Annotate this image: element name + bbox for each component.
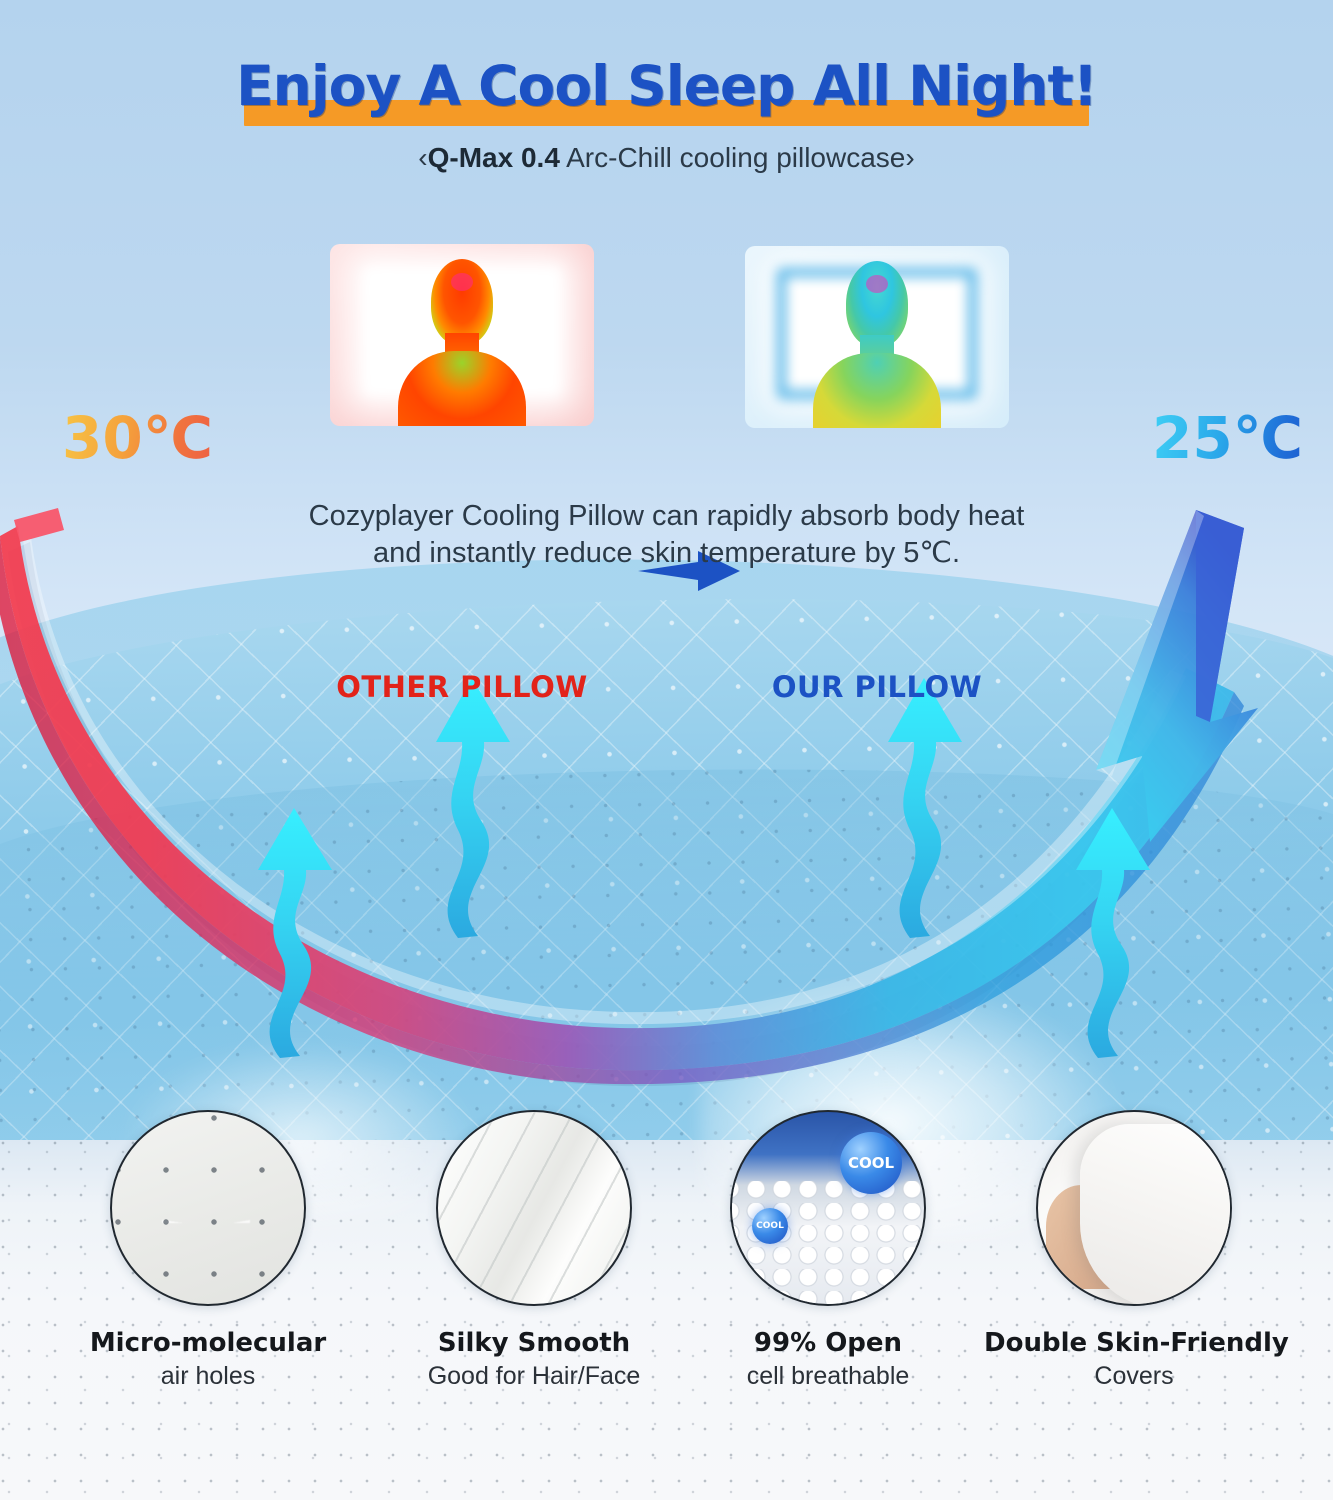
feature-subtitle: Covers: [984, 1362, 1284, 1391]
cool-airflow-arrow-icon: [1064, 800, 1174, 1060]
thermal-body-cold: [812, 261, 942, 428]
feature-subtitle: cell breathable: [678, 1362, 978, 1391]
cool-airflow-arrow-icon: [424, 672, 534, 940]
subtitle-open-bracket: ‹: [418, 142, 427, 173]
feature-subtitle: air holes: [58, 1362, 358, 1391]
fiber-strands: [162, 1124, 250, 1224]
thermal-torso-cold: [813, 353, 941, 428]
feature-item[interactable]: Silky Smooth Good for Hair/Face: [384, 1110, 684, 1391]
thermal-body-hot: [397, 259, 527, 426]
double-cover-icon: [1036, 1110, 1232, 1306]
feature-item[interactable]: COOL COOL 99% Open cell breathable: [678, 1110, 978, 1391]
caption-our-pillow: OUR PILLOW: [745, 670, 1009, 704]
page-title: Enjoy A Cool Sleep All Night!: [236, 54, 1097, 118]
page-title-wrapper: Enjoy A Cool Sleep All Night!: [222, 54, 1111, 118]
thermal-comparison: OTHER PILLOW OUR PILLOW: [0, 236, 1333, 486]
thermal-face-mark: [451, 273, 473, 291]
open-cell-structure: [730, 1181, 926, 1306]
feature-item[interactable]: Micro-molecular air holes: [58, 1110, 358, 1391]
header: Enjoy A Cool Sleep All Night! ‹Q-Max 0.4…: [0, 54, 1333, 174]
cover-flap: [1080, 1124, 1232, 1306]
cool-bubble-small: COOL: [752, 1208, 788, 1244]
feature-title: Micro-molecular: [58, 1328, 358, 1358]
subtitle-rest: Arc-Chill cooling pillowcase: [560, 142, 905, 173]
description-block: Cozyplayer Cooling Pillow can rapidly ab…: [0, 498, 1333, 572]
feature-subtitle: Good for Hair/Face: [384, 1362, 684, 1391]
thermal-image-our-pillow: [745, 246, 1009, 428]
thermal-image-other-pillow: [330, 244, 594, 426]
thermal-face-mark: [866, 275, 888, 293]
description-line-1: Cozyplayer Cooling Pillow can rapidly ab…: [0, 498, 1333, 535]
description-line-2: and instantly reduce skin temperature by…: [0, 535, 1333, 572]
cool-bubble-large: COOL: [840, 1132, 902, 1194]
feature-title: Double Skin-Friendly: [984, 1328, 1284, 1358]
silky-fabric-icon: [436, 1110, 632, 1306]
feature-title: 99% Open: [678, 1328, 978, 1358]
subtitle-close-bracket: ›: [905, 142, 914, 173]
cool-airflow-arrow-icon: [876, 672, 986, 940]
cool-airflow-arrow-icon: [246, 800, 356, 1060]
subtitle-qmax: Q-Max 0.4: [428, 142, 560, 173]
page-subtitle: ‹Q-Max 0.4 Arc-Chill cooling pillowcase›: [0, 142, 1333, 174]
feature-title: Silky Smooth: [384, 1328, 684, 1358]
air-holes-icon: [110, 1110, 306, 1306]
infographic-canvas: Enjoy A Cool Sleep All Night! ‹Q-Max 0.4…: [0, 0, 1333, 1500]
feature-list: Micro-molecular air holes Silky Smooth G…: [0, 1110, 1333, 1450]
thermal-torso-hot: [398, 351, 526, 426]
open-cell-icon: COOL COOL: [730, 1110, 926, 1306]
feature-item[interactable]: Double Skin-Friendly Covers: [984, 1110, 1284, 1391]
caption-other-pillow: OTHER PILLOW: [330, 670, 594, 704]
